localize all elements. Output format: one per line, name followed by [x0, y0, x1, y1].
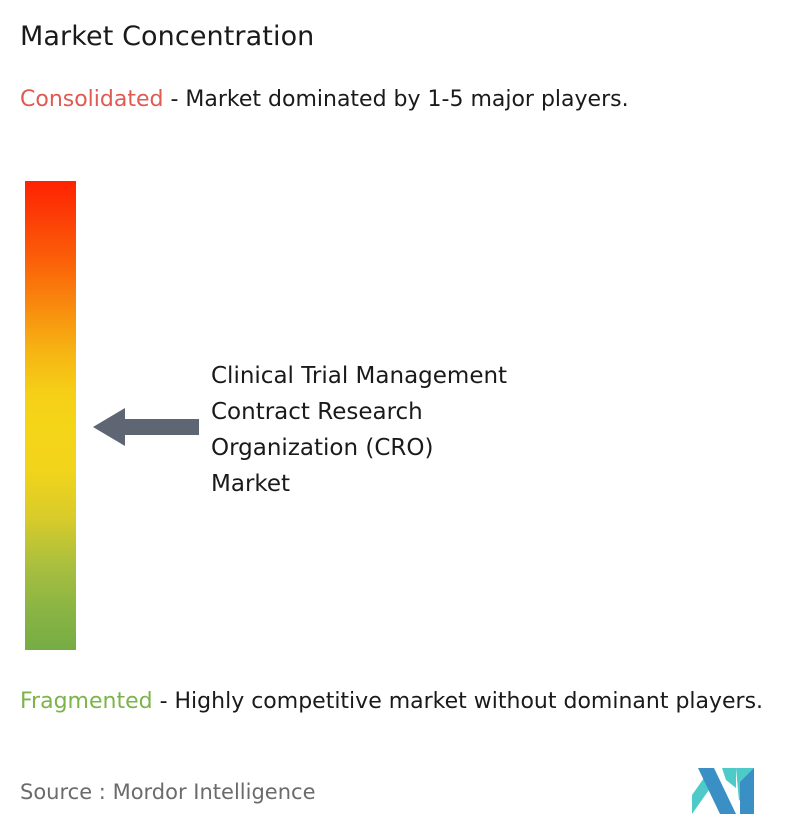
marker-label-line-3: Organization (CRO) [211, 430, 631, 466]
legend-fragmented-description: - Highly competitive market without domi… [153, 689, 763, 714]
mordor-intelligence-logo-svg [692, 768, 754, 814]
marker-label: Clinical Trial Management Contract Resea… [211, 358, 631, 502]
mordor-intelligence-logo [692, 768, 754, 814]
left-arrow-svg [93, 403, 199, 451]
market-concentration-gradient-bar [25, 181, 76, 650]
marker-label-line-2: Contract Research [211, 394, 631, 430]
legend-fragmented: Fragmented - Highly competitive market w… [20, 686, 788, 718]
source-value: Mordor Intelligence [113, 780, 316, 804]
page-title: Market Concentration [20, 20, 314, 54]
source-label: Source : [20, 780, 106, 804]
legend-fragmented-keyword: Fragmented [20, 689, 153, 714]
left-arrow-icon [93, 403, 199, 451]
marker-label-line-4: Market [211, 466, 631, 502]
legend-consolidated-description: - Market dominated by 1-5 major players. [163, 87, 628, 112]
logo-shape-mid-teal [722, 768, 736, 788]
left-arrow-shape [93, 408, 199, 446]
legend-consolidated-keyword: Consolidated [20, 87, 163, 112]
marker-label-line-1: Clinical Trial Management [211, 358, 631, 394]
legend-consolidated: Consolidated - Market dominated by 1-5 m… [20, 84, 765, 116]
source-attribution: Source : Mordor Intelligence [20, 778, 315, 806]
